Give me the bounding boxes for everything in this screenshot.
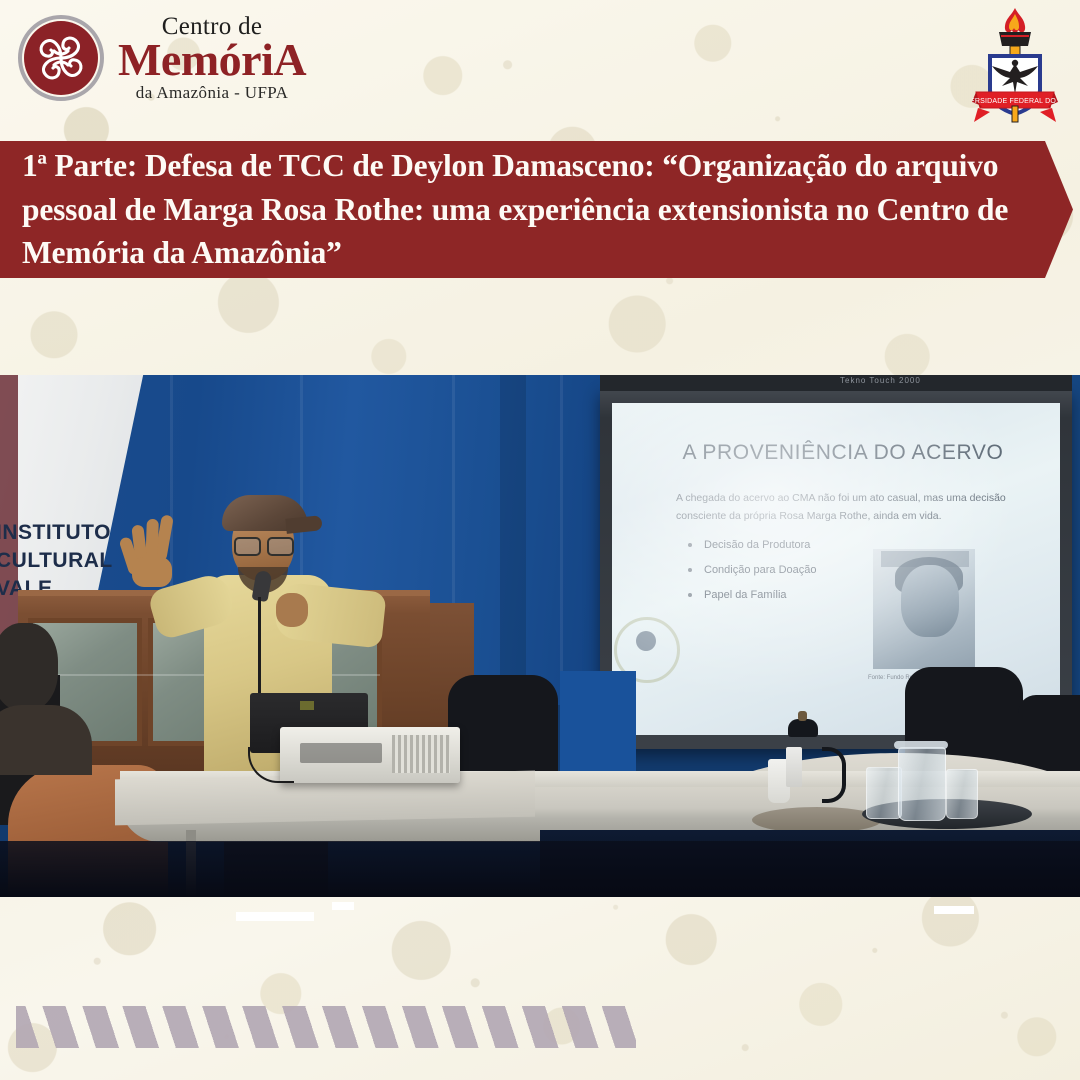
foreground-shadow (0, 841, 1080, 897)
projector-vent (392, 735, 450, 773)
slide-body-text: A chegada do acervo ao CMA não foi um at… (676, 489, 1006, 526)
title-banner-text: 1ª Parte: Defesa de TCC de Deylon Damasc… (0, 144, 1068, 274)
poster-canvas: Centro de MemóriA da Amazônia - UFPA (0, 0, 1080, 1080)
slide-portrait-image (873, 549, 975, 669)
water-pitcher (898, 747, 946, 821)
presenter-raised-hand (128, 515, 180, 585)
photo-edge-mark (332, 902, 354, 910)
event-photo: INSTITUTO CULTURAL VALE Tekno Touch 2000… (0, 375, 1080, 897)
slide-bullet-label: Papel da Família (704, 589, 787, 601)
slide-bullet-label: Decisão da Produtora (704, 539, 810, 551)
thermos-handle (822, 747, 846, 803)
slide-title: A PROVENIÊNCIA DO ACERVO (668, 441, 1018, 465)
bullet-dot-icon (688, 593, 692, 597)
rollup-banner-edge (0, 375, 18, 643)
laptop-badge (300, 701, 314, 710)
title-banner: 1ª Parte: Defesa de TCC de Deylon Damasc… (0, 141, 1073, 278)
svg-text:UNIVERSIDADE FEDERAL DO PARÁ: UNIVERSIDADE FEDERAL DO PARÁ (972, 96, 1058, 105)
drinking-glass (866, 767, 902, 819)
seated-attendee-shoulder (0, 705, 92, 775)
decorative-diagonal-stripes (16, 1006, 636, 1048)
brand-line-2: MemóriA (118, 37, 306, 83)
slide-portrait-face (901, 565, 959, 637)
ufpa-coat-of-arms-icon: UNIVERSIDADE FEDERAL DO PARÁ (972, 6, 1058, 124)
bullet-dot-icon (688, 568, 692, 572)
presenter-mic-hand (276, 593, 308, 627)
photo-edge-mark (934, 906, 974, 914)
thermos-lid (788, 719, 818, 737)
water-pitcher-lid (894, 741, 948, 749)
paper-cups-stack (786, 747, 802, 787)
rollup-line-2: CULTURAL (0, 549, 113, 573)
centro-de-memoria-logo: Centro de MemóriA da Amazônia - UFPA (18, 14, 306, 101)
presenter-glasses-icon (234, 537, 294, 552)
centro-de-memoria-wordmark: Centro de MemóriA da Amazônia - UFPA (118, 14, 306, 101)
photo-edge-mark (236, 912, 314, 921)
rollup-line-1: INSTITUTO (0, 521, 111, 545)
screen-brand-label: Tekno Touch 2000 (840, 376, 921, 385)
bullet-dot-icon (688, 543, 692, 547)
triskelion-spiral-emblem-icon (18, 15, 104, 101)
projector-port-panel (300, 743, 382, 763)
thermos-knob (798, 711, 807, 721)
drinking-glass (946, 769, 978, 819)
seated-attendee-head (0, 623, 58, 711)
slide-dot-decoration (636, 631, 656, 651)
header: Centro de MemóriA da Amazônia - UFPA (0, 0, 1080, 141)
slide-bullet-label: Condição para Doação (704, 564, 817, 576)
brand-line-3: da Amazônia - UFPA (136, 84, 288, 101)
screen-top-bar (600, 375, 1072, 391)
